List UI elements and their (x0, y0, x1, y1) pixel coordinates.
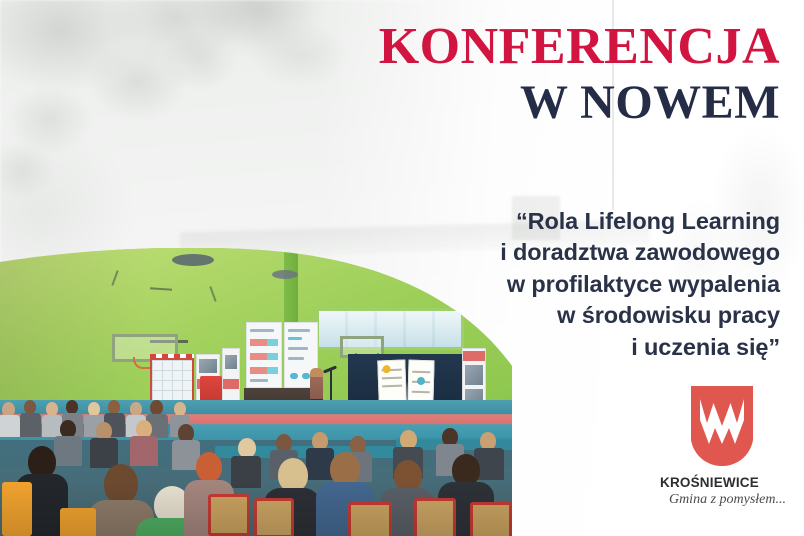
audience (0, 398, 512, 536)
quote-line-2: i doradztwa zawodowego (340, 237, 780, 268)
coat-of-arms-shield-icon (691, 386, 753, 466)
poster-board (150, 358, 194, 402)
presentation-screen (246, 322, 282, 388)
quote-line-5: i uczenia się” (340, 332, 780, 363)
title-line-konferencja: KONFERENCJA (360, 20, 780, 73)
municipality-tagline: Gmina z pomysłem... (652, 492, 792, 508)
rollup-banner (222, 348, 240, 402)
gym-wall-shading (0, 248, 150, 400)
conference-theme-quote: “Rola Lifelong Learning i doradztwa zawo… (340, 206, 780, 363)
ceiling-fixture (172, 254, 214, 266)
quote-line-4: w środowisku pracy (340, 300, 780, 331)
ceiling-fixture (272, 270, 298, 279)
krosniewice-logo: KROŚNIEWICE Gmina z pomysłem... (652, 386, 792, 522)
flipchart (377, 360, 406, 403)
quote-line-3: w profilaktyce wypalenia (340, 269, 780, 300)
poster-title: KONFERENCJA W NOWEM (360, 20, 780, 130)
flipchart (407, 360, 434, 403)
title-line-w-nowem: W NOWEM (360, 77, 780, 130)
quote-line-1: “Rola Lifelong Learning (340, 206, 780, 237)
municipality-name: KROŚNIEWICE (652, 475, 792, 490)
conference-poster: KONFERENCJA W NOWEM “Rola Lifelong Learn… (0, 0, 804, 536)
